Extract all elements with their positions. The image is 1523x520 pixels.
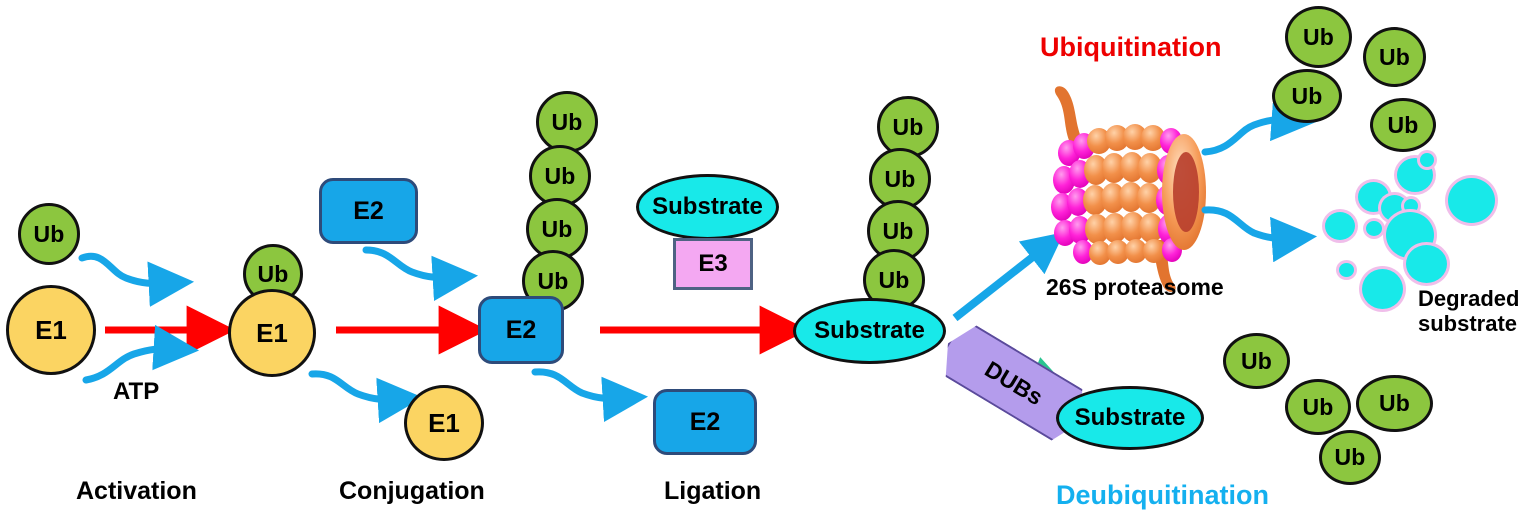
ub-label: Ub (541, 216, 572, 243)
ub-label: Ub (544, 163, 575, 190)
deub-released-ub-1: Ub (1223, 333, 1290, 389)
released-ub-4: Ub (1370, 98, 1436, 152)
degraded-blob (1404, 199, 1418, 213)
caption-activation: Activation (76, 477, 197, 506)
e1-label: E1 (256, 318, 288, 349)
e2-label: E2 (690, 408, 721, 437)
degraded-blob (1362, 269, 1403, 309)
degraded-blob (1406, 245, 1447, 283)
ub-label: Ub (1379, 44, 1410, 71)
e2-label: E2 (353, 197, 384, 226)
tagged-substrate: Substrate (793, 298, 946, 364)
deubiquitination-title: Deubiquitination (1056, 480, 1269, 511)
ub-label: Ub (1241, 348, 1272, 375)
ub-label: Ub (878, 267, 909, 294)
degraded-blob (1448, 178, 1495, 223)
conjugation-e1: E1 (228, 289, 316, 377)
conjugation-e2-free: E2 (319, 178, 418, 244)
ub-label: Ub (892, 114, 923, 141)
released-ub-1: Ub (1285, 6, 1352, 68)
ub-label: Ub (1302, 394, 1333, 421)
ub-label: Ub (551, 109, 582, 136)
deub-released-ub-2: Ub (1285, 379, 1351, 435)
deub-released-ub-4: Ub (1319, 430, 1381, 485)
ub-label: Ub (884, 166, 915, 193)
activation-e1: E1 (6, 285, 96, 375)
degraded-blob (1420, 153, 1434, 167)
ub-label: Ub (257, 261, 288, 288)
degraded-substrate-label: Degraded substrate (1418, 287, 1519, 336)
substrate-label: Substrate (814, 317, 925, 345)
ubiquitination-title: Ubiquitination (1040, 32, 1221, 63)
e1-label: E1 (35, 315, 67, 346)
ligation-e2-released: E2 (653, 389, 757, 455)
released-ub-3: Ub (1272, 69, 1342, 123)
ligation-substrate: Substrate (636, 174, 779, 240)
ligation-e2-charged: E2 (478, 296, 564, 364)
ub-label: Ub (1334, 444, 1365, 471)
ub-label: Ub (1379, 390, 1410, 417)
conjugation-e1-released: E1 (404, 385, 484, 461)
e3-label: E3 (698, 250, 727, 278)
pathway-diagram: Ub E1 ATP Activation E2 Ub E1 E1 Conjuga… (0, 0, 1523, 520)
ub-label: Ub (1387, 112, 1418, 139)
ub-label: Ub (1291, 83, 1322, 110)
substrate-label: Substrate (1075, 404, 1186, 432)
caption-ligation: Ligation (664, 477, 761, 506)
ub-label: Ub (1303, 24, 1334, 51)
released-ub-2: Ub (1363, 27, 1426, 87)
substrate-label: Substrate (652, 193, 763, 221)
dubs-label: DUBs (980, 355, 1048, 410)
ub-label: Ub (882, 218, 913, 245)
proteasome-label: 26S proteasome (1046, 275, 1224, 301)
ligation-e3: E3 (673, 238, 753, 290)
degraded-blob (1325, 212, 1355, 240)
degraded-blob (1366, 221, 1382, 236)
caption-conjugation: Conjugation (339, 477, 485, 506)
deubiquitinated-substrate: Substrate (1056, 386, 1204, 450)
degraded-blob (1339, 263, 1354, 277)
activation-ubiquitin: Ub (18, 203, 80, 265)
deub-released-ub-3: Ub (1356, 375, 1433, 432)
e1-label: E1 (428, 408, 460, 439)
atp-label: ATP (113, 379, 159, 406)
ub-label: Ub (33, 221, 64, 248)
ub-label: Ub (537, 268, 568, 295)
ligation-ub-chain-1: Ub (536, 91, 598, 153)
e2-label: E2 (506, 316, 537, 345)
